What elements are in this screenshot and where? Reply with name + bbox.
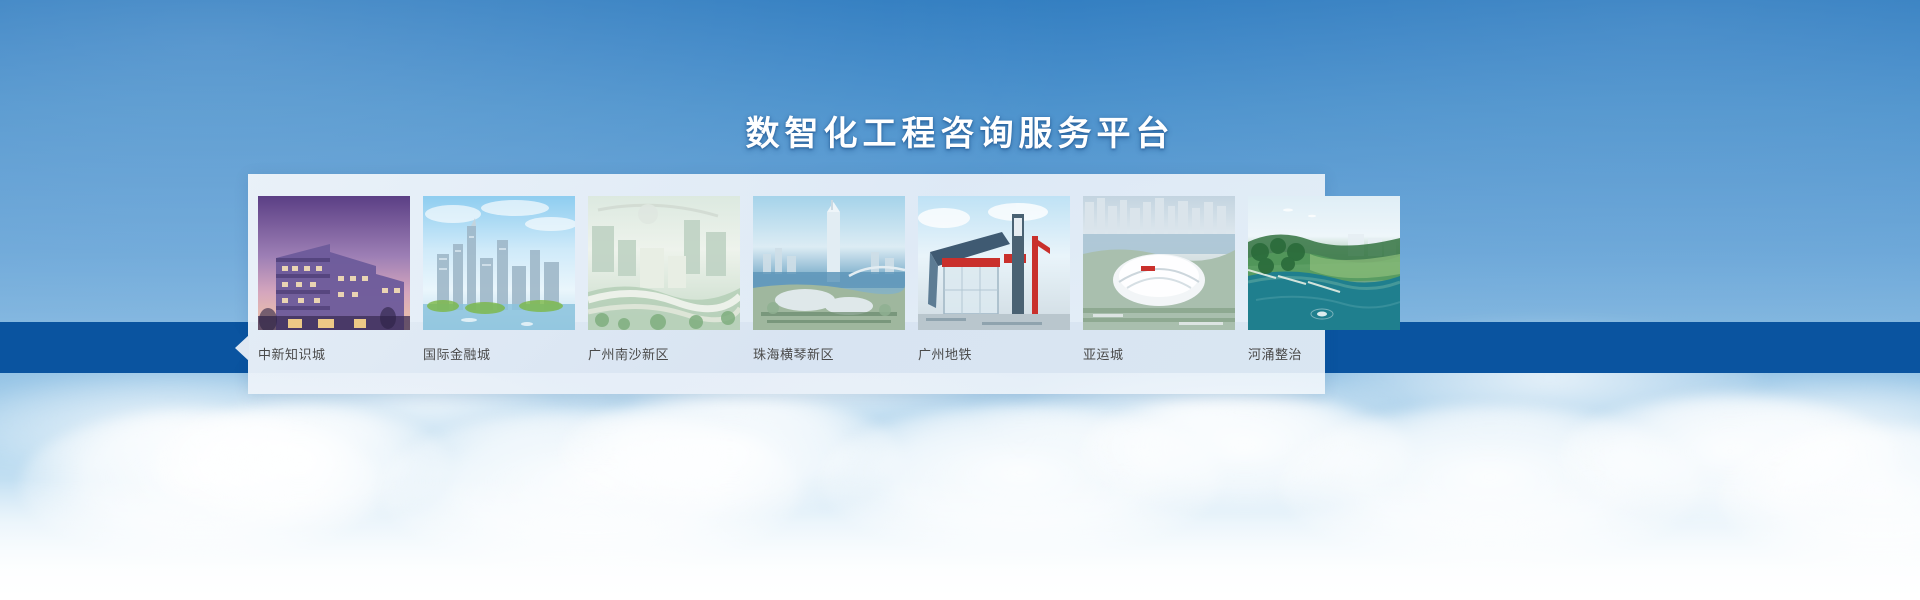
list-item-label: 广州地铁 xyxy=(918,344,1070,363)
project-thumbnail-icon[interactable] xyxy=(423,196,575,330)
list-item[interactable]: 国际金融城 xyxy=(423,196,575,363)
list-item[interactable]: 河涌整治 xyxy=(1248,196,1400,363)
list-item[interactable]: 中新知识城 xyxy=(258,196,410,363)
project-thumbnail-icon[interactable] xyxy=(1248,196,1400,330)
list-item[interactable]: 广州南沙新区 xyxy=(588,196,740,363)
list-item-label: 亚运城 xyxy=(1083,344,1235,363)
list-item[interactable]: 亚运城 xyxy=(1083,196,1235,363)
list-item[interactable]: 珠海横琴新区 xyxy=(753,196,905,363)
project-gallery: 中新知识城 xyxy=(258,196,1400,363)
project-gallery-panel: 中新知识城 xyxy=(248,174,1325,394)
project-thumbnail-icon[interactable] xyxy=(588,196,740,330)
page-title: 数智化工程咨询服务平台 xyxy=(0,106,1920,155)
project-thumbnail-icon[interactable] xyxy=(1083,196,1235,330)
list-item-label: 国际金融城 xyxy=(423,344,575,363)
list-item[interactable]: 广州地铁 xyxy=(918,196,1070,363)
project-thumbnail-icon[interactable] xyxy=(258,196,410,330)
hero-banner: 数智化工程咨询服务平台 xyxy=(0,0,1920,600)
list-item-label: 河涌整治 xyxy=(1248,344,1400,363)
band-arrow-cut-icon xyxy=(235,335,249,361)
project-thumbnail-icon[interactable] xyxy=(918,196,1070,330)
project-thumbnail-icon[interactable] xyxy=(753,196,905,330)
list-item-label: 珠海横琴新区 xyxy=(753,344,905,363)
list-item-label: 广州南沙新区 xyxy=(588,344,740,363)
list-item-label: 中新知识城 xyxy=(258,344,410,363)
